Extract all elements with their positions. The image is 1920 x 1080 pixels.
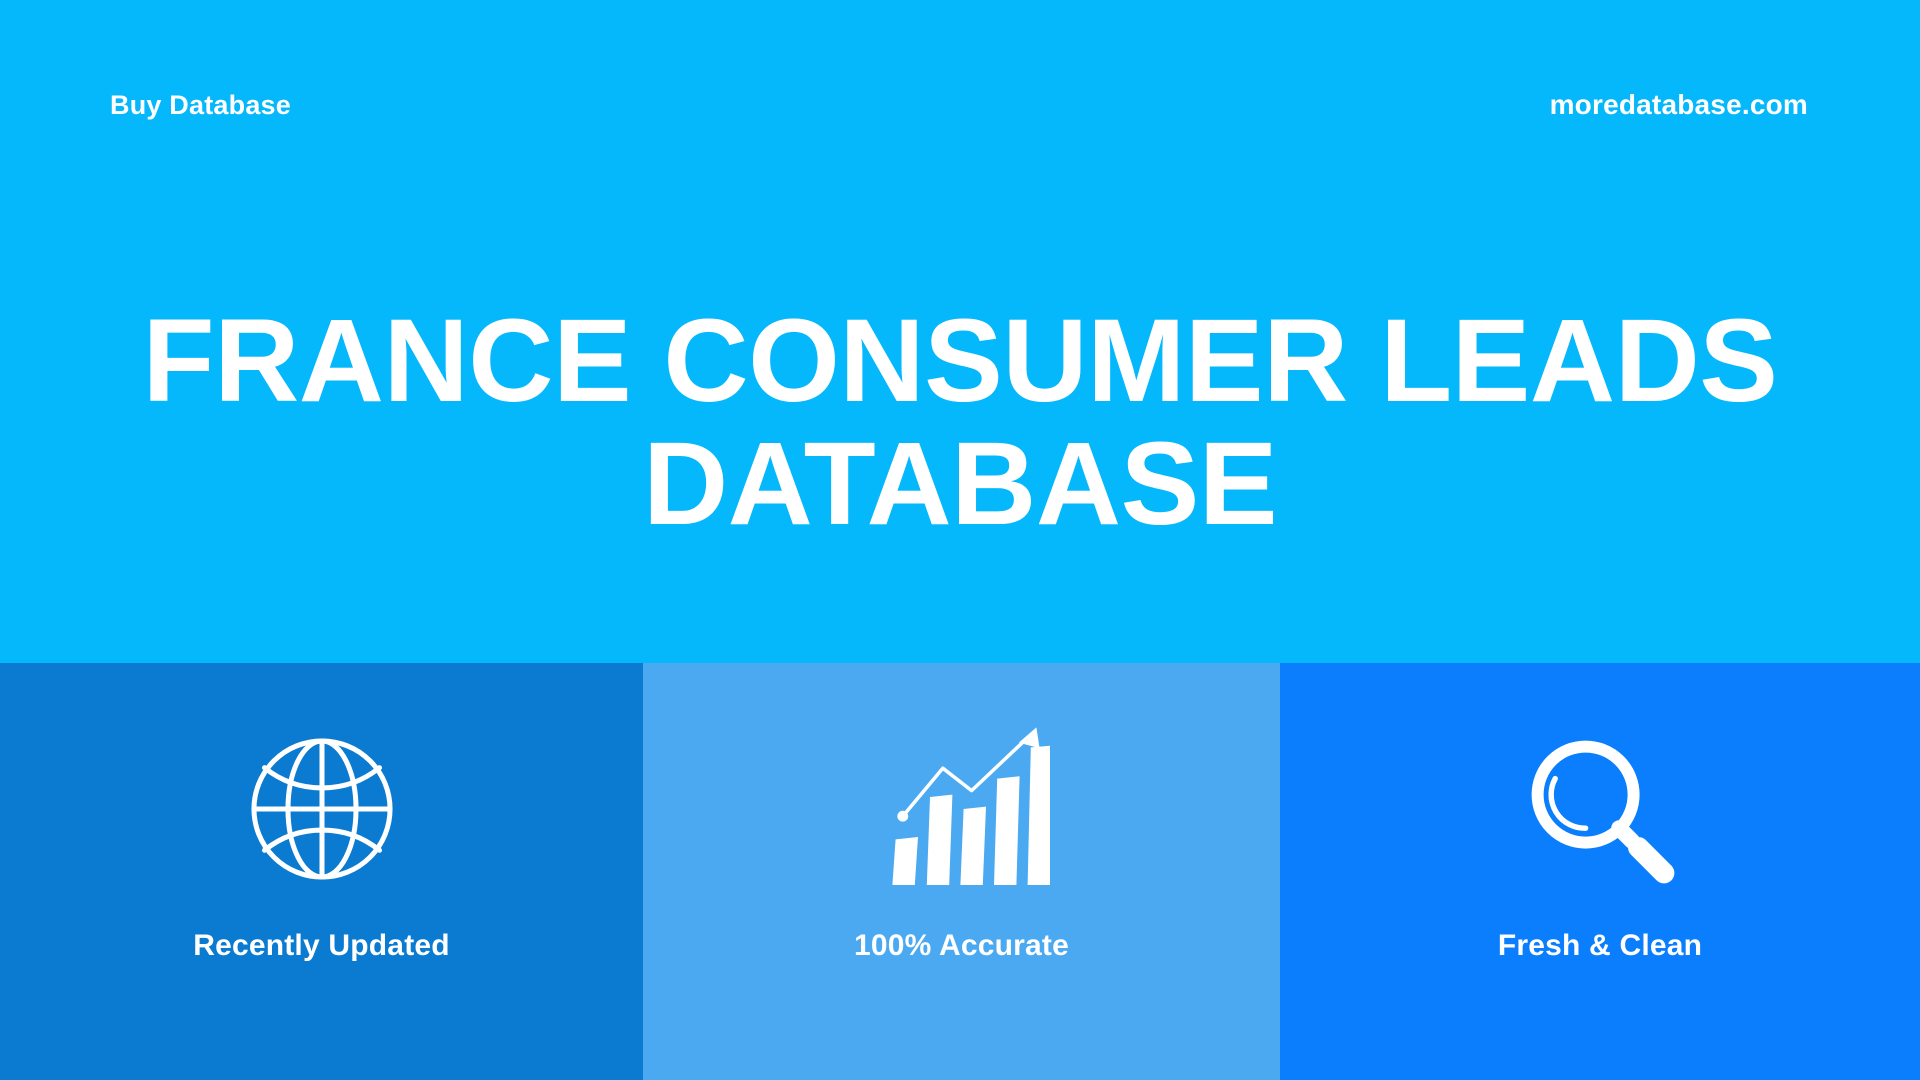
promo-banner: Buy Database moredatabase.com FRANCE CON… <box>0 0 1920 1080</box>
hero-section: Buy Database moredatabase.com FRANCE CON… <box>0 0 1920 663</box>
feature-panels: Recently Updated <box>0 663 1920 1080</box>
hero-topbar: Buy Database moredatabase.com <box>0 0 1920 210</box>
globe-icon <box>241 725 403 893</box>
headline-line-2: DATABASE <box>0 423 1920 546</box>
magnifier-icon <box>1520 725 1680 893</box>
growth-bar-chart-icon <box>874 725 1050 893</box>
website-url: moredatabase.com <box>1550 91 1808 119</box>
headline-container: FRANCE CONSUMER LEADS DATABASE <box>0 300 1920 545</box>
brand-name: Buy Database <box>110 92 291 119</box>
feature-label-fresh-clean: Fresh & Clean <box>1498 931 1702 961</box>
page-title: FRANCE CONSUMER LEADS DATABASE <box>0 300 1920 545</box>
feature-panel-recently-updated: Recently Updated <box>0 663 643 1080</box>
headline-line-1: FRANCE CONSUMER LEADS <box>143 295 1778 427</box>
feature-label-recently-updated: Recently Updated <box>193 931 450 961</box>
feature-panel-accurate: 100% Accurate <box>643 663 1280 1080</box>
feature-panel-fresh-clean: Fresh & Clean <box>1280 663 1920 1080</box>
feature-label-accurate: 100% Accurate <box>854 931 1069 961</box>
